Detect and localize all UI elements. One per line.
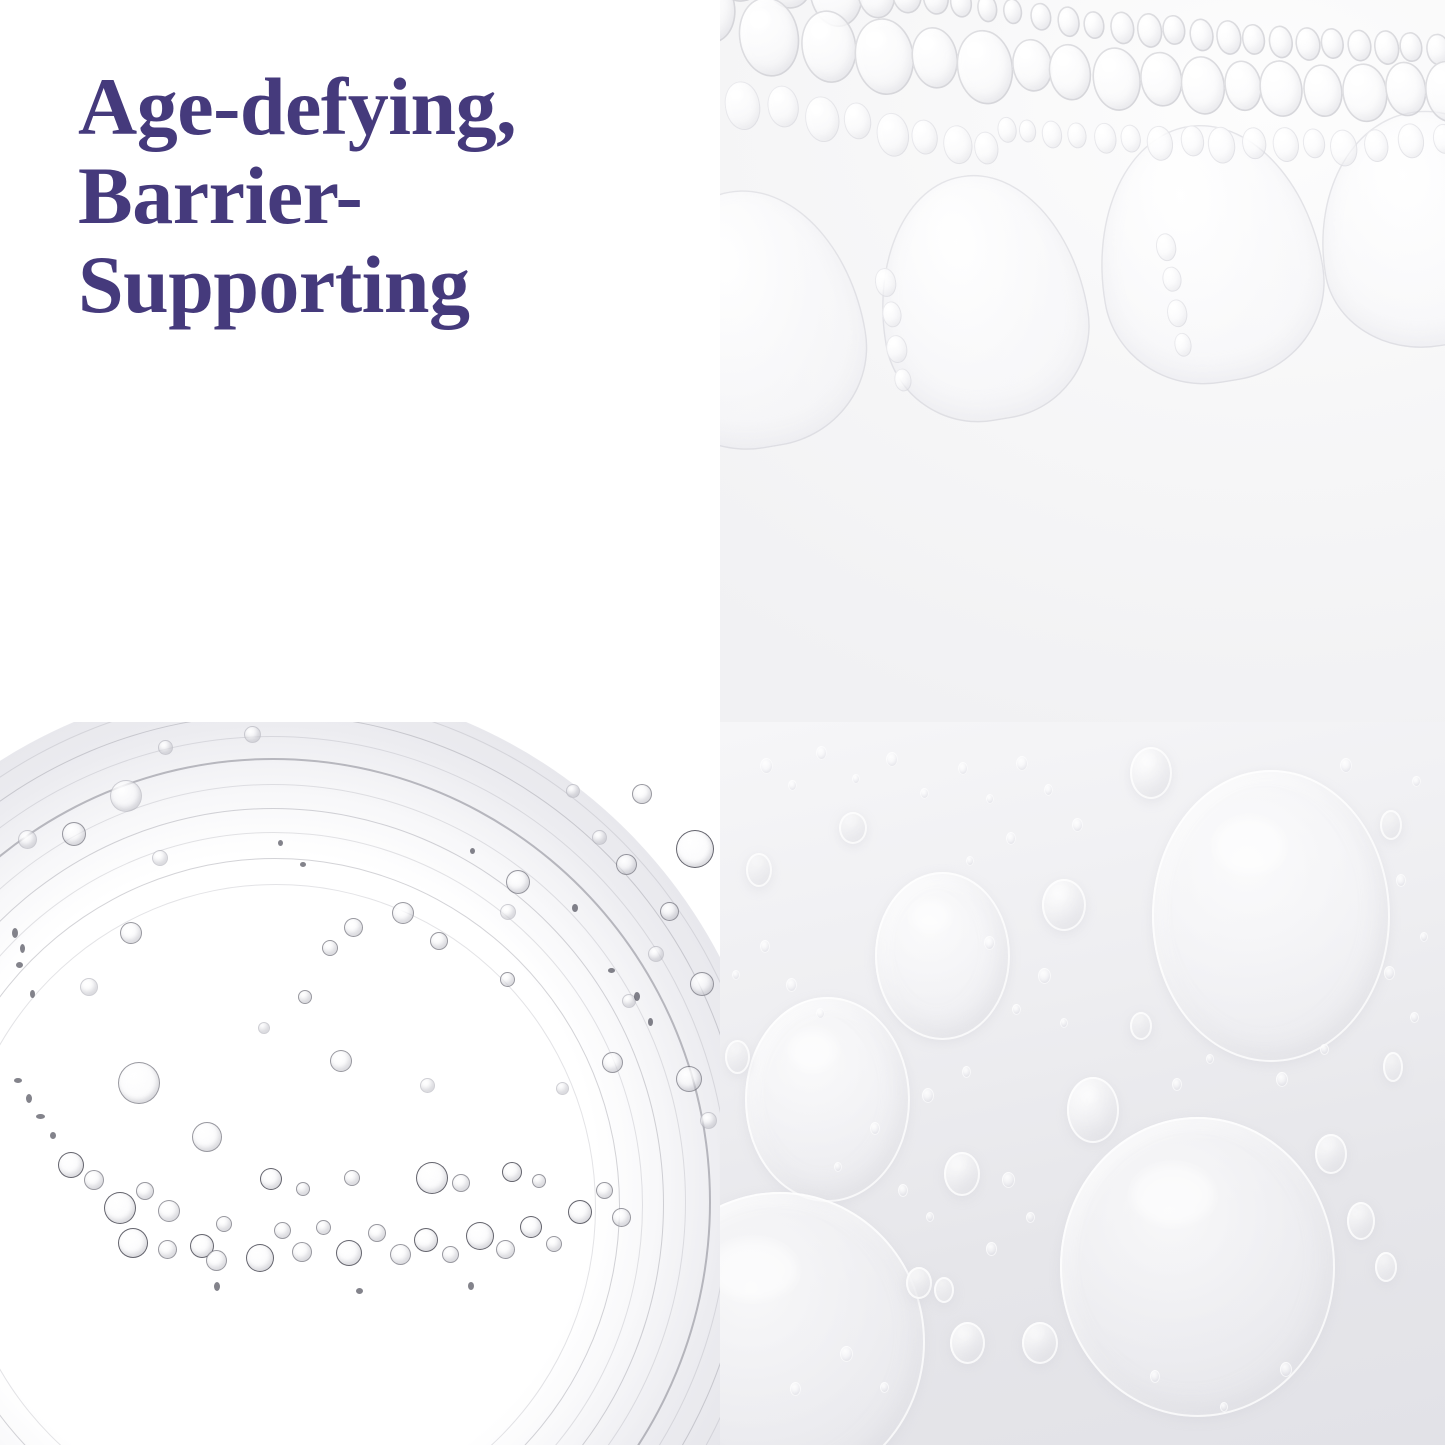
peptide-panel: Peptide Complex visibly plumps, firms an…: [720, 722, 1445, 1445]
elastin-panel: Hydrolyzed Elastin locks in moisture and…: [0, 722, 720, 1445]
foam-bubble-cluster-photo: [720, 0, 1445, 722]
foam-sheet: [720, 0, 1445, 460]
oil-droplet-bubbles-photo: [720, 722, 1445, 1445]
adenosine-panel: Adenosine boosts collagen synthesis: [720, 0, 1445, 722]
ingredient-benefits-poster: Age-defying, Barrier- Supporting: [0, 0, 1445, 1445]
headline-panel: Age-defying, Barrier- Supporting: [0, 0, 720, 722]
page-title: Age-defying, Barrier- Supporting: [78, 62, 678, 329]
clear-gel-swirl-photo: [0, 722, 720, 1445]
